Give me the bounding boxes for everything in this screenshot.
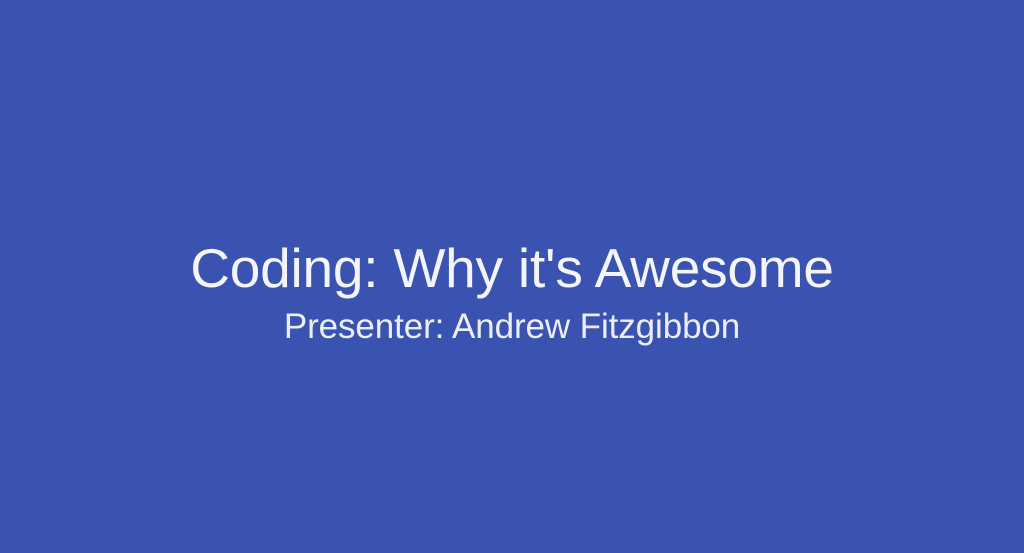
page-title: Coding: Why it's Awesome xyxy=(0,238,1024,298)
title-slide: Coding: Why it's Awesome Presenter: Andr… xyxy=(0,0,1024,553)
title-block: Coding: Why it's Awesome Presenter: Andr… xyxy=(0,238,1024,348)
presenter-subtitle: Presenter: Andrew Fitzgibbon xyxy=(0,306,1024,348)
